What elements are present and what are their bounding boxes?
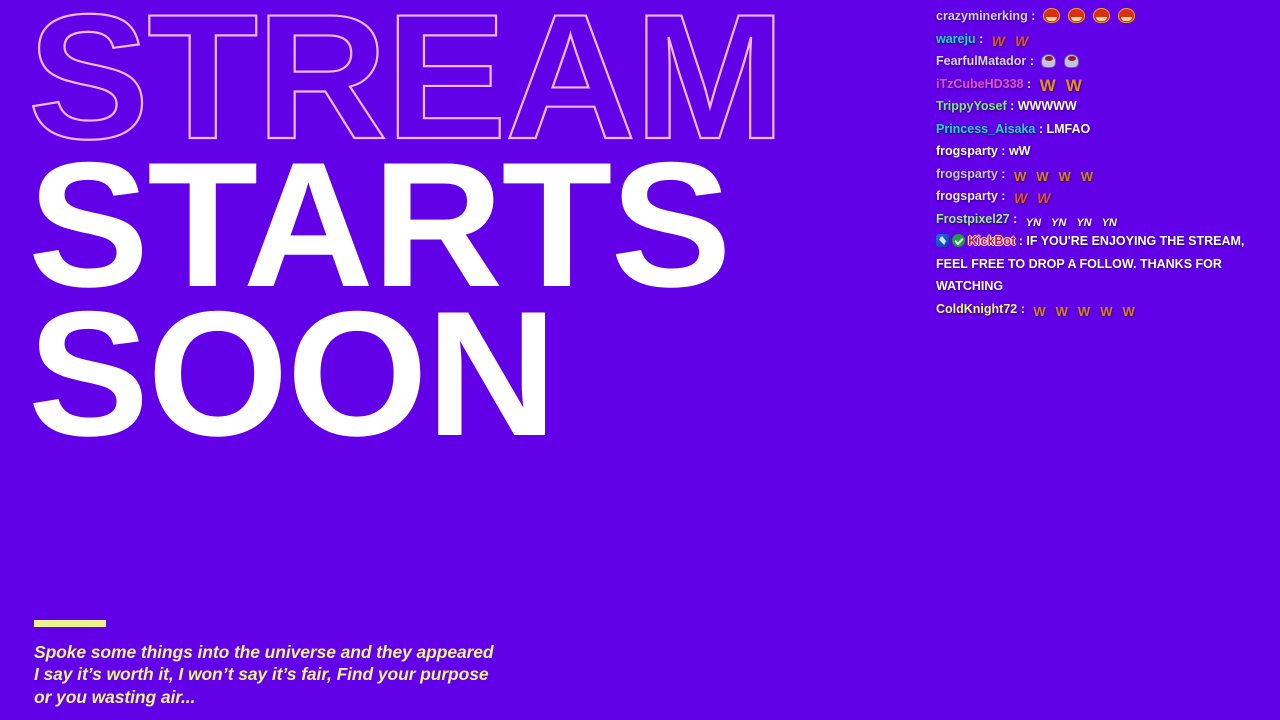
chat-username[interactable]: KickBot xyxy=(968,234,1015,248)
w-emote: W xyxy=(1078,305,1090,318)
stream-starting-soon-screen: STREAM STARTS SOON crazyminerking : ware… xyxy=(0,0,1280,720)
grey-face-emote xyxy=(1041,54,1056,68)
w-emote: W xyxy=(1036,170,1048,183)
moderator-badge xyxy=(936,234,949,247)
chat-username[interactable]: FearfulMatador xyxy=(936,54,1026,68)
chat-separator: : xyxy=(998,144,1009,158)
chat-message: iTzCubeHD338 : WW xyxy=(928,73,1272,96)
chat-message: crazyminerking : xyxy=(928,5,1272,28)
chat-message: frogsparty : wW xyxy=(928,140,1272,163)
chat-username[interactable]: frogsparty xyxy=(936,189,998,203)
chat-username[interactable]: frogsparty xyxy=(936,144,998,158)
w-emote: W xyxy=(1081,170,1093,183)
chat-username[interactable]: crazyminerking xyxy=(936,9,1028,23)
w-emote: W xyxy=(1033,305,1045,318)
chat-message: Frostpixel27 : YNYNYNYN xyxy=(928,208,1272,231)
chat-message: frogsparty : WWWW xyxy=(928,163,1272,186)
chat-username[interactable]: Frostpixel27 xyxy=(936,212,1010,226)
w-emote: W xyxy=(1066,77,1082,94)
verified-badge xyxy=(952,234,965,247)
chat-separator: : xyxy=(1024,77,1035,91)
chat-separator: : xyxy=(1028,9,1039,23)
chat-username[interactable]: wareju xyxy=(936,32,976,46)
chat-message-text: WWWWW xyxy=(1018,99,1077,113)
headline-line-soon: SOON xyxy=(28,303,946,445)
chat-username[interactable]: TrippyYosef xyxy=(936,99,1007,113)
chat-message: ColdKnight72 : WWWWW xyxy=(928,298,1272,321)
chat-separator: : xyxy=(976,32,987,46)
headline-block: STREAM STARTS SOON xyxy=(28,6,928,445)
w-squiggle-emote: W xyxy=(992,34,1005,48)
w-squiggle-emote: W xyxy=(1037,191,1050,205)
yn-emote: YN xyxy=(1026,218,1041,229)
chat-overlay[interactable]: crazyminerking : wareju : WWFearfulMatad… xyxy=(928,14,1280,320)
chat-separator: : xyxy=(1026,54,1037,68)
yn-emote: YN xyxy=(1051,218,1066,229)
w-emote: W xyxy=(1100,305,1112,318)
lyric-line-3: or you wasting air... xyxy=(34,686,494,708)
chat-separator: : xyxy=(1015,234,1026,248)
chat-username[interactable]: Princess_Aisaka xyxy=(936,122,1035,136)
chat-separator: : xyxy=(998,167,1009,181)
grey-face-emote xyxy=(1064,54,1079,68)
chat-message: TrippyYosef : WWWWW xyxy=(928,95,1272,118)
red-face-emote xyxy=(1068,8,1085,23)
w-emote: W xyxy=(1014,170,1026,183)
w-squiggle-emote: W xyxy=(1015,34,1028,48)
chat-message-text: wW xyxy=(1009,144,1031,158)
chat-message: wareju : WW xyxy=(928,28,1272,51)
chat-separator: : xyxy=(998,189,1009,203)
yn-emote: YN xyxy=(1102,218,1117,229)
chat-message: KickBot : IF YOU'RE ENJOYING THE STREAM,… xyxy=(928,230,1272,298)
chat-username[interactable]: frogsparty xyxy=(936,167,998,181)
chat-separator: : xyxy=(1007,99,1018,113)
chat-separator: : xyxy=(1035,122,1046,136)
chat-message: FearfulMatador : xyxy=(928,50,1272,73)
chat-username[interactable]: iTzCubeHD338 xyxy=(936,77,1024,91)
yn-emote: YN xyxy=(1076,218,1091,229)
w-squiggle-emote: W xyxy=(1014,191,1027,205)
chat-message: frogsparty : WW xyxy=(928,185,1272,208)
lyrics-block: Spoke some things into the universe and … xyxy=(34,620,494,708)
chat-message-text: LMFAO xyxy=(1047,122,1091,136)
w-emote: W xyxy=(1122,305,1134,318)
red-face-emote xyxy=(1118,8,1135,23)
accent-bar xyxy=(34,620,106,627)
chat-separator: : xyxy=(1017,302,1028,316)
chat-username[interactable]: ColdKnight72 xyxy=(936,302,1017,316)
red-face-emote xyxy=(1043,8,1060,23)
red-face-emote xyxy=(1093,8,1110,23)
chat-separator: : xyxy=(1010,212,1021,226)
w-emote: W xyxy=(1056,305,1068,318)
w-emote: W xyxy=(1040,77,1056,94)
chat-message: Princess_Aisaka : LMFAO xyxy=(928,118,1272,141)
lyric-line-2: I say it’s worth it, I won’t say it’s fa… xyxy=(34,663,494,685)
lyric-line-1: Spoke some things into the universe and … xyxy=(34,641,494,663)
w-emote: W xyxy=(1059,170,1071,183)
